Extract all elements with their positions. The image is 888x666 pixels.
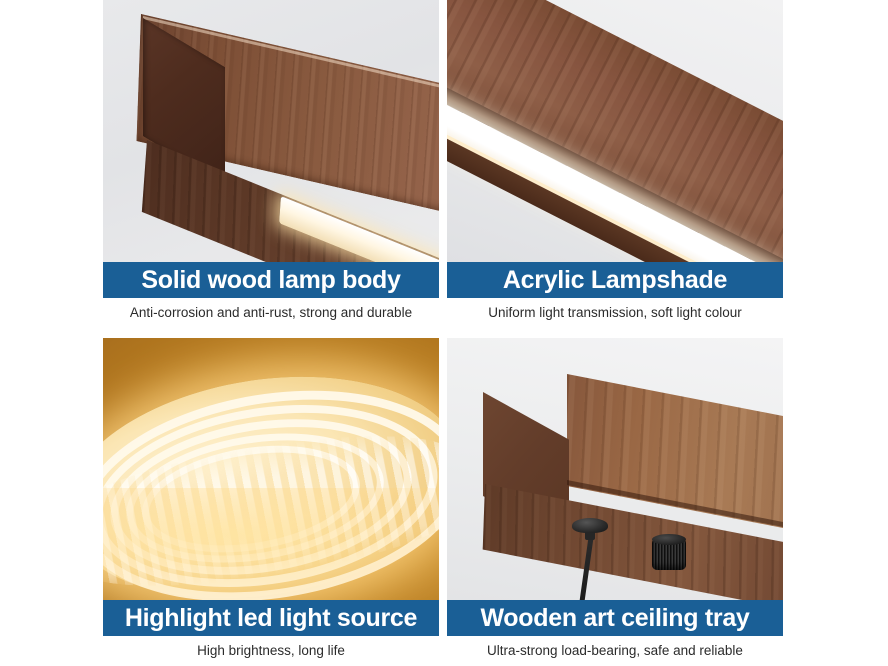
feature-banner-acrylic-lampshade: Acrylic Lampshade: [447, 262, 783, 298]
feature-subtitle-solid-wood-lamp-body: Anti-corrosion and anti-rust, strong and…: [103, 298, 439, 328]
feature-banner-highlight-led-light-source: Highlight led light source: [103, 600, 439, 636]
feature-subtitle-acrylic-lampshade: Uniform light transmission, soft light c…: [447, 298, 783, 328]
cable-gland-icon: [572, 518, 608, 533]
feature-banner-wooden-art-ceiling-tray: Wooden art ceiling tray: [447, 600, 783, 636]
feature-image-highlight-led-light-source: [103, 338, 439, 600]
feature-image-acrylic-lampshade: [447, 0, 783, 262]
feature-card-highlight-led-light-source: Highlight led light source High brightne…: [103, 338, 439, 666]
feature-title: Highlight led light source: [125, 606, 417, 631]
knurled-knob-top: [652, 534, 686, 545]
feature-grid: Solid wood lamp body Anti-corrosion and …: [103, 0, 785, 666]
feature-subtitle-highlight-led-light-source: High brightness, long life: [103, 636, 439, 666]
feature-image-solid-wood-lamp-body: [103, 0, 439, 262]
feature-card-wooden-art-ceiling-tray: Wooden art ceiling tray Ultra-strong loa…: [447, 338, 783, 666]
feature-title: Solid wood lamp body: [141, 268, 400, 293]
feature-subtitle-wooden-art-ceiling-tray: Ultra-strong load-bearing, safe and reli…: [447, 636, 783, 666]
feature-image-wooden-art-ceiling-tray: [447, 338, 783, 600]
feature-title: Acrylic Lampshade: [503, 268, 727, 293]
feature-title: Wooden art ceiling tray: [480, 606, 749, 631]
feature-banner-solid-wood-lamp-body: Solid wood lamp body: [103, 262, 439, 298]
feature-card-solid-wood-lamp-body: Solid wood lamp body Anti-corrosion and …: [103, 0, 439, 328]
product-feature-grid: Solid wood lamp body Anti-corrosion and …: [0, 0, 888, 666]
feature-card-acrylic-lampshade: Acrylic Lampshade Uniform light transmis…: [447, 0, 783, 328]
warm-light-bloom: [103, 488, 439, 600]
